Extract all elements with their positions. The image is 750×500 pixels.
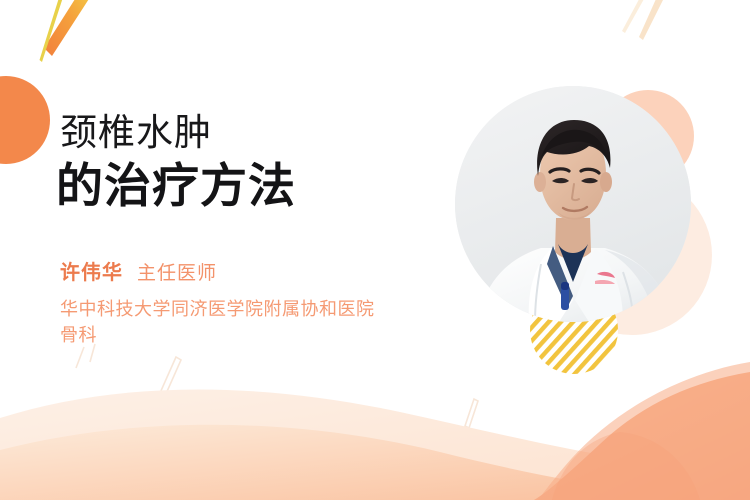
doctor-identity-line: 许伟华 主任医师 [60,256,460,285]
page-title-line-1: 颈椎水肿 [60,110,460,156]
doctor-photo-circle [455,86,691,322]
text-content-block: 颈椎水肿 的治疗方法 许伟华 主任医师 华中科技大学同济医学院附属协和医院 骨科 [60,110,460,348]
page-title-line-2: 的治疗方法 [56,158,460,214]
doctor-portrait-illustration [455,86,691,322]
doctor-department: 骨科 [60,322,460,348]
left-orange-circle [0,76,50,164]
poster-canvas: 颈椎水肿 的治疗方法 许伟华 主任医师 华中科技大学同济医学院附属协和医院 骨科 [0,0,750,500]
doctor-title: 主任医师 [137,258,217,285]
doctor-photo [455,86,691,322]
top-right-accent-strokes [622,0,668,40]
doctor-name: 许伟华 [60,256,123,285]
top-left-accent-strokes [40,0,97,62]
doctor-hospital: 华中科技大学同济医学院附属协和医院 [60,296,460,322]
